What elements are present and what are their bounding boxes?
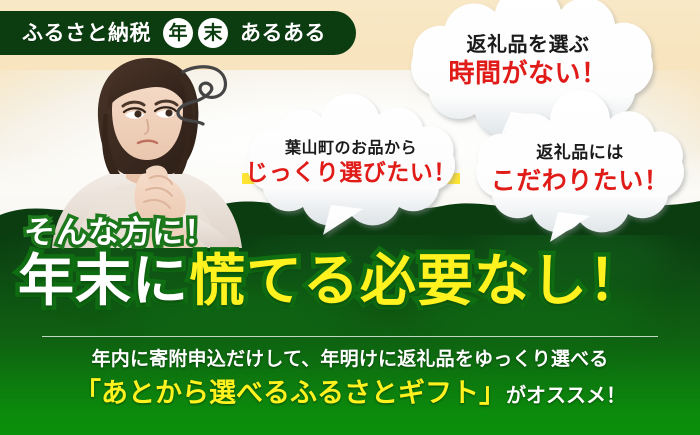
bubble-line-2: 時間がない！ [448,60,607,89]
bubble-line-1: 返礼品には [462,144,698,163]
bottom-copy-block: 年内に寄附申込だけして、年明けに返礼品をゆっくり選べる 「あとから選べるふるさと… [0,348,700,410]
bottom-copy-line-1: 年内に寄附申込だけして、年明けに返礼品をゆっくり選べる [0,348,700,372]
bubble-line-2: こだわりたい！ [491,167,670,195]
speech-bubble-particular: 返礼品には こだわりたい！ [462,116,698,228]
promo-banner: 返礼品を選ぶ 時間がない！ 葉山町のお品から じっく [0,0,700,435]
headline-big-white: 年末に [18,249,189,314]
speech-bubble-no-time: 返礼品を選ぶ 時間がない！ [383,8,673,128]
bubble-line-2: じっくり選びたい！ [245,161,457,186]
bottom-copy-suffix: がオススメ！ [506,383,626,407]
headline-block: そんな方に！ 年末に慌てる必要なし！ [0,218,700,311]
bottom-copy-product-name: 「あとから選べるふるさとギフト」 [74,378,506,409]
header-banner: ふるさと納税 年 末 あるある [0,11,356,55]
bubble-line-1: 葉山町のお品から [231,139,471,157]
headline-big-yellow: 慌てる必要なし！ [189,249,645,314]
header-kanji-circle-matsu: 末 [198,18,228,48]
headline-small: そんな方に！ [24,218,700,249]
bubble-line-1: 返礼品を選ぶ [383,33,673,55]
bottom-copy-line-2: 「あとから選べるふるさとギフト」がオススメ！ [0,378,700,410]
speech-bubble-take-time: 葉山町のお品から じっくり選びたい！ [231,113,471,221]
headline-big: 年末に慌てる必要なし！ [18,253,700,311]
header-text-before: ふるさと納税 [22,23,151,44]
header-text-after: あるある [240,23,326,44]
header-kanji-circle-nen: 年 [163,18,193,48]
divider-line [42,336,658,337]
